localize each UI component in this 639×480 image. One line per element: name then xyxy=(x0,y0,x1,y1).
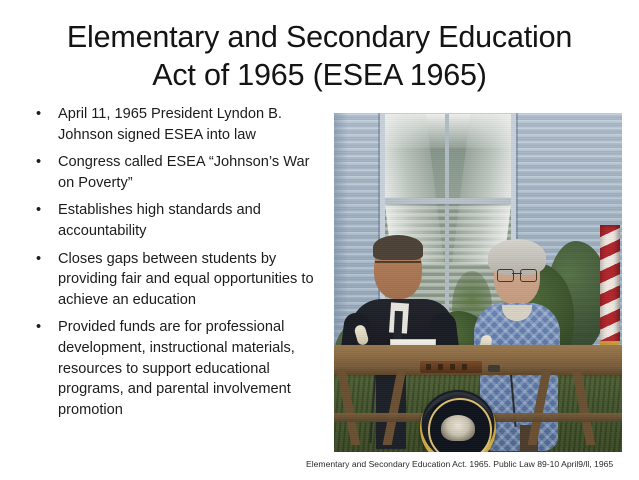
list-item: • Congress called ESEA “Johnson’s War on… xyxy=(28,152,328,193)
list-item-text: April 11, 1965 President Lyndon B. Johns… xyxy=(58,104,328,145)
list-item-text: Closes gaps between students by providin… xyxy=(58,249,328,311)
woman-glasses-icon xyxy=(497,269,537,280)
table-object xyxy=(488,365,500,372)
bullet-marker-icon: • xyxy=(36,317,41,338)
page-title: Elementary and Secondary Education Act o… xyxy=(18,18,621,94)
list-item-text: Congress called ESEA “Johnson’s War on P… xyxy=(58,152,328,193)
pen-slot xyxy=(438,364,443,370)
pen-slot xyxy=(450,364,455,370)
seal-eagle-icon xyxy=(441,415,475,441)
list-item: • April 11, 1965 President Lyndon B. Joh… xyxy=(28,104,328,145)
list-item: • Establishes high standards and account… xyxy=(28,200,328,241)
photo-caption: Elementary and Secondary Education Act. … xyxy=(306,459,638,470)
slide-canvas: Elementary and Secondary Education Act o… xyxy=(0,0,639,480)
lbj-glasses-icon xyxy=(375,261,421,271)
bullet-marker-icon: • xyxy=(36,152,41,173)
pen-slot xyxy=(426,364,431,370)
list-item: • Closes gaps between students by provid… xyxy=(28,249,328,311)
bullet-list: • April 11, 1965 President Lyndon B. Joh… xyxy=(28,104,328,420)
lbj-esea-signing-photo xyxy=(334,113,622,452)
bullet-marker-icon: • xyxy=(36,249,41,270)
pen-box xyxy=(420,361,482,373)
bullet-marker-icon: • xyxy=(36,104,41,125)
list-item-text: Provided funds are for professional deve… xyxy=(58,317,328,420)
title-line-1: Elementary and Secondary Education xyxy=(18,18,621,56)
list-item-text: Establishes high standards and accountab… xyxy=(58,200,328,241)
lbj-hair xyxy=(373,235,423,260)
pen-slot xyxy=(462,364,467,370)
list-item: • Provided funds are for professional de… xyxy=(28,317,328,420)
window-mullion-horizontal xyxy=(385,198,511,204)
bullet-marker-icon: • xyxy=(36,200,41,221)
title-line-2: Act of 1965 (ESEA 1965) xyxy=(18,56,621,94)
photo-figure xyxy=(334,113,622,452)
glasses-lens-right xyxy=(520,269,537,282)
glasses-lens-left xyxy=(497,269,514,282)
window-mullion-vertical xyxy=(445,114,449,332)
